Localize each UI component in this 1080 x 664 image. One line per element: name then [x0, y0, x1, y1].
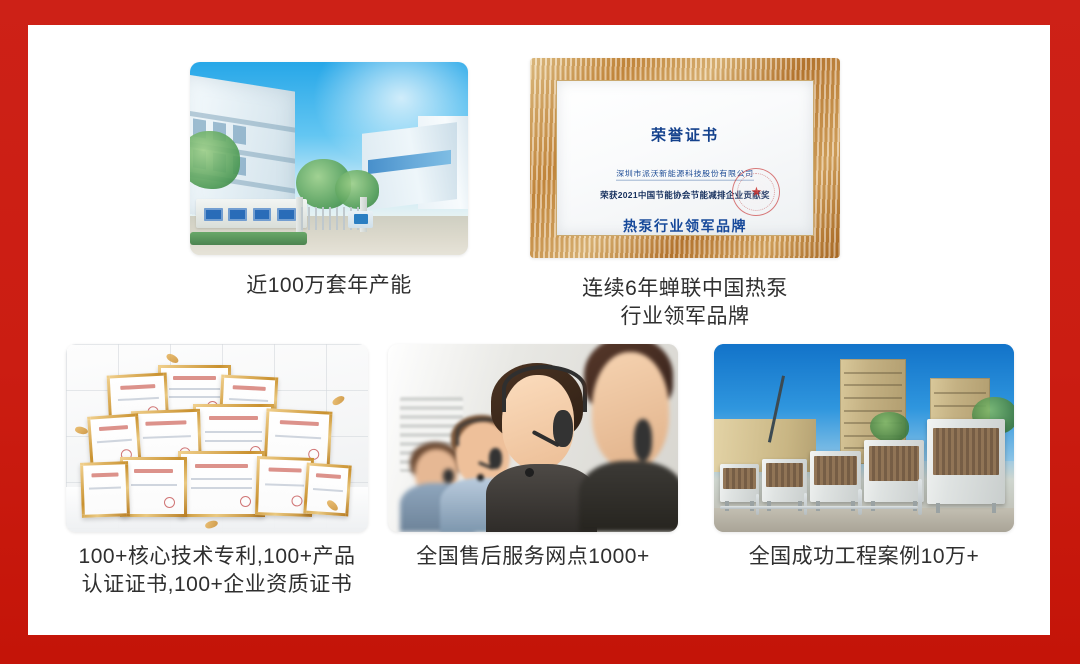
certificates-wall-photo: [66, 344, 368, 532]
poster-root: 近100万套年产能 荣誉证书 深圳市派沃新能源科技股份有限公司 荣获2021中国…: [0, 0, 1080, 664]
factory-building-photo: [190, 62, 468, 255]
certificate-title: 荣誉证书: [651, 124, 719, 145]
pipe: [858, 489, 862, 515]
heat-pump-unit: [927, 419, 1005, 504]
official-seal-icon: ★: [732, 168, 780, 216]
pipe-run: [720, 506, 918, 509]
caption-patents: 100+核心技术专利,100+产品 认证证书,100+企业资质证书: [44, 543, 390, 598]
card-service-network[interactable]: 全国售后服务网点1000+: [388, 344, 678, 532]
certificate-item: [178, 451, 266, 517]
card-patents[interactable]: 100+核心技术专利,100+产品 认证证书,100+企业资质证书: [66, 344, 368, 532]
heat-pump-unit: [810, 451, 861, 502]
honor-certificate-photo: 荣誉证书 深圳市派沃新能源科技股份有限公司 荣获2021中国节能协会节能减排企业…: [530, 58, 840, 258]
white-panel: 近100万套年产能 荣誉证书 深圳市派沃新能源科技股份有限公司 荣获2021中国…: [28, 25, 1050, 635]
ground: [714, 508, 1014, 532]
certificate-item: [120, 457, 186, 518]
caption-leading-brand: 连续6年蝉联中国热泵 行业领军品牌: [530, 275, 840, 330]
heat-pump-unit: [720, 464, 759, 502]
tree: [870, 412, 909, 442]
tree: [335, 170, 379, 209]
pipe: [756, 494, 759, 515]
certificate-mat: 荣誉证书 深圳市派沃新能源科技股份有限公司 荣获2021中国节能协会节能减排企业…: [556, 80, 814, 236]
gate-logo: [348, 211, 373, 228]
caption-annual-capacity: 近100万套年产能: [190, 272, 468, 300]
caption-service-network: 全国售后服务网点1000+: [388, 543, 678, 571]
call-center-photo: [388, 344, 678, 532]
heat-pump-units-photo: [714, 344, 1014, 532]
certificate-brand: 热泵行业领军品牌: [623, 216, 747, 236]
pipe: [804, 493, 807, 516]
certificate-item: [80, 462, 130, 519]
certificate-item: [303, 463, 352, 517]
caption-project-cases: 全国成功工程案例10万+: [714, 543, 1014, 571]
hedge: [190, 232, 307, 246]
tree: [190, 131, 240, 189]
agent-right: [579, 344, 678, 532]
certificate-company: 深圳市派沃新能源科技股份有限公司: [616, 168, 754, 180]
card-annual-capacity[interactable]: 近100万套年产能: [190, 62, 468, 255]
heat-pump-unit: [762, 459, 807, 502]
heat-pump-unit: [864, 440, 924, 502]
factory-sign: [204, 207, 296, 222]
card-project-cases[interactable]: 全国成功工程案例10万+: [714, 344, 1014, 532]
pipe: [918, 479, 922, 515]
card-leading-brand[interactable]: 荣誉证书 深圳市派沃新能源科技股份有限公司 荣获2021中国节能协会节能减排企业…: [530, 58, 840, 258]
